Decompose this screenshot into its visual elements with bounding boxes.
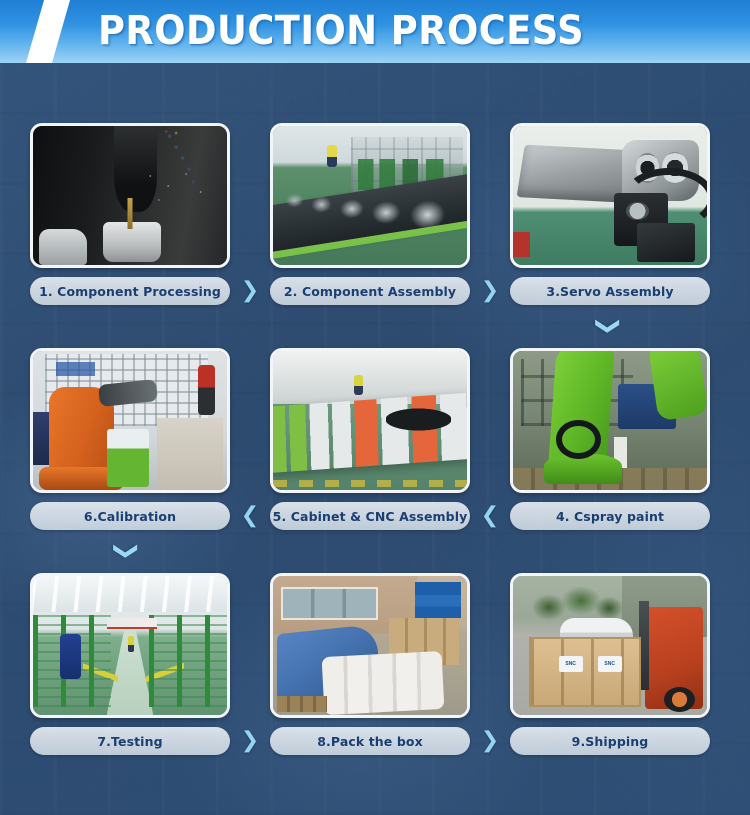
- servo-cable-loop: [623, 168, 710, 229]
- step-label-5: 5. Cabinet & CNC Assembly: [270, 502, 470, 530]
- chevron-left-icon-2: ❮: [470, 502, 510, 530]
- step-card-8[interactable]: 8.Pack the box: [270, 573, 470, 755]
- chevron-right-icon-2: ❯: [470, 277, 510, 305]
- step-photo-3: [510, 123, 710, 268]
- step-label-3: 3.Servo Assembly: [510, 277, 710, 305]
- step-card-2[interactable]: 2. Component Assembly: [270, 123, 470, 305]
- testing-blue-robot: [60, 634, 81, 678]
- step-photo-1: [30, 123, 230, 268]
- step-photo-7: [30, 573, 230, 718]
- chevron-right-icon-4: ❯: [470, 727, 510, 755]
- line-worker: [327, 145, 337, 167]
- calibration-green-cart: [107, 429, 150, 487]
- packing-pallet: [277, 696, 327, 713]
- testing-cages-right: [149, 615, 227, 707]
- slash-accent-icon: [22, 0, 73, 63]
- step-label-6: 6.Calibration: [30, 502, 230, 530]
- step-card-5[interactable]: 5. Cabinet & CNC Assembly: [270, 348, 470, 530]
- spray-robot-joint: [556, 420, 601, 460]
- shipping-scene: SNC SNC: [513, 576, 707, 715]
- step-card-9[interactable]: SNC SNC 9.Shipping: [510, 573, 710, 755]
- chevron-right-icon-3: ❯: [230, 727, 270, 755]
- cnc-machining-scene: [33, 126, 227, 265]
- cabinet-worker: [354, 375, 363, 395]
- production-process-infographic: PRODUCTION PROCESS 1. Component Processi…: [0, 0, 750, 815]
- spray-green-robot-secondary: [648, 348, 709, 421]
- step-label-4: 4. Cspray paint: [510, 502, 710, 530]
- testing-ceiling-lights: [33, 576, 227, 612]
- step-photo-2: [270, 123, 470, 268]
- cnc-workpiece-secondary: [39, 229, 87, 265]
- chevron-down-icon-left: ❯: [112, 534, 142, 568]
- calibration-display-robot: [198, 365, 215, 415]
- step-card-1[interactable]: 1. Component Processing: [30, 123, 230, 305]
- page-header: PRODUCTION PROCESS: [0, 0, 750, 63]
- step-label-1: 1. Component Processing: [30, 277, 230, 305]
- spray-paint-scene: [513, 351, 707, 490]
- step-label-2: 2. Component Assembly: [270, 277, 470, 305]
- servo-robot-scene: [513, 126, 707, 265]
- step-photo-8: [270, 573, 470, 718]
- cabinet-cable-coil: [386, 407, 452, 432]
- crate-label-left: SNC: [559, 656, 583, 672]
- step-label-7: 7.Testing: [30, 727, 230, 755]
- packing-scene: [273, 576, 467, 715]
- servo-black-module: [637, 223, 695, 262]
- step-card-7[interactable]: 7.Testing: [30, 573, 230, 755]
- cnc-workpiece: [103, 222, 161, 262]
- chevron-left-icon-1: ❮: [230, 502, 270, 530]
- packing-white-wrapped-goods: [322, 651, 445, 716]
- step-card-3[interactable]: 3.Servo Assembly: [510, 123, 710, 305]
- servo-red-box: [513, 232, 530, 257]
- step-card-6[interactable]: 6.Calibration: [30, 348, 230, 530]
- calibration-panel: [157, 418, 223, 490]
- process-grid: 1. Component Processing 2. Component Ass…: [0, 63, 750, 815]
- shipping-wooden-crate: SNC SNC: [529, 637, 642, 707]
- chevron-down-icon-right: ❯: [594, 309, 624, 343]
- step-label-8: 8.Pack the box: [270, 727, 470, 755]
- cabinet-floor-marking: [273, 480, 467, 487]
- step-label-9: 9.Shipping: [510, 727, 710, 755]
- testing-worker: [128, 636, 134, 652]
- testing-hall-scene: [33, 576, 227, 715]
- calibration-scene: [33, 351, 227, 490]
- step-photo-9: SNC SNC: [510, 573, 710, 718]
- step-card-4[interactable]: 4. Cspray paint: [510, 348, 710, 530]
- assembly-line-scene: [273, 126, 467, 265]
- calibration-notice: [56, 362, 95, 376]
- packing-window: [281, 587, 378, 620]
- crate-label-right: SNC: [598, 656, 622, 672]
- cabinet-assembly-scene: [273, 351, 467, 490]
- step-photo-4: [510, 348, 710, 493]
- line-parts: [274, 162, 466, 245]
- step-photo-5: [270, 348, 470, 493]
- cnc-chips-detail: [143, 168, 215, 208]
- cabinet-row: [270, 393, 470, 473]
- chevron-right-icon-1: ❯: [230, 277, 270, 305]
- packing-blue-sign: [415, 582, 462, 618]
- step-photo-6: [30, 348, 230, 493]
- page-title: PRODUCTION PROCESS: [98, 4, 584, 58]
- process-row-3: 7.Testing 8.Pack the box: [0, 573, 750, 798]
- testing-banner: [107, 618, 157, 630]
- process-row-1: 1. Component Processing 2. Component Ass…: [0, 123, 750, 348]
